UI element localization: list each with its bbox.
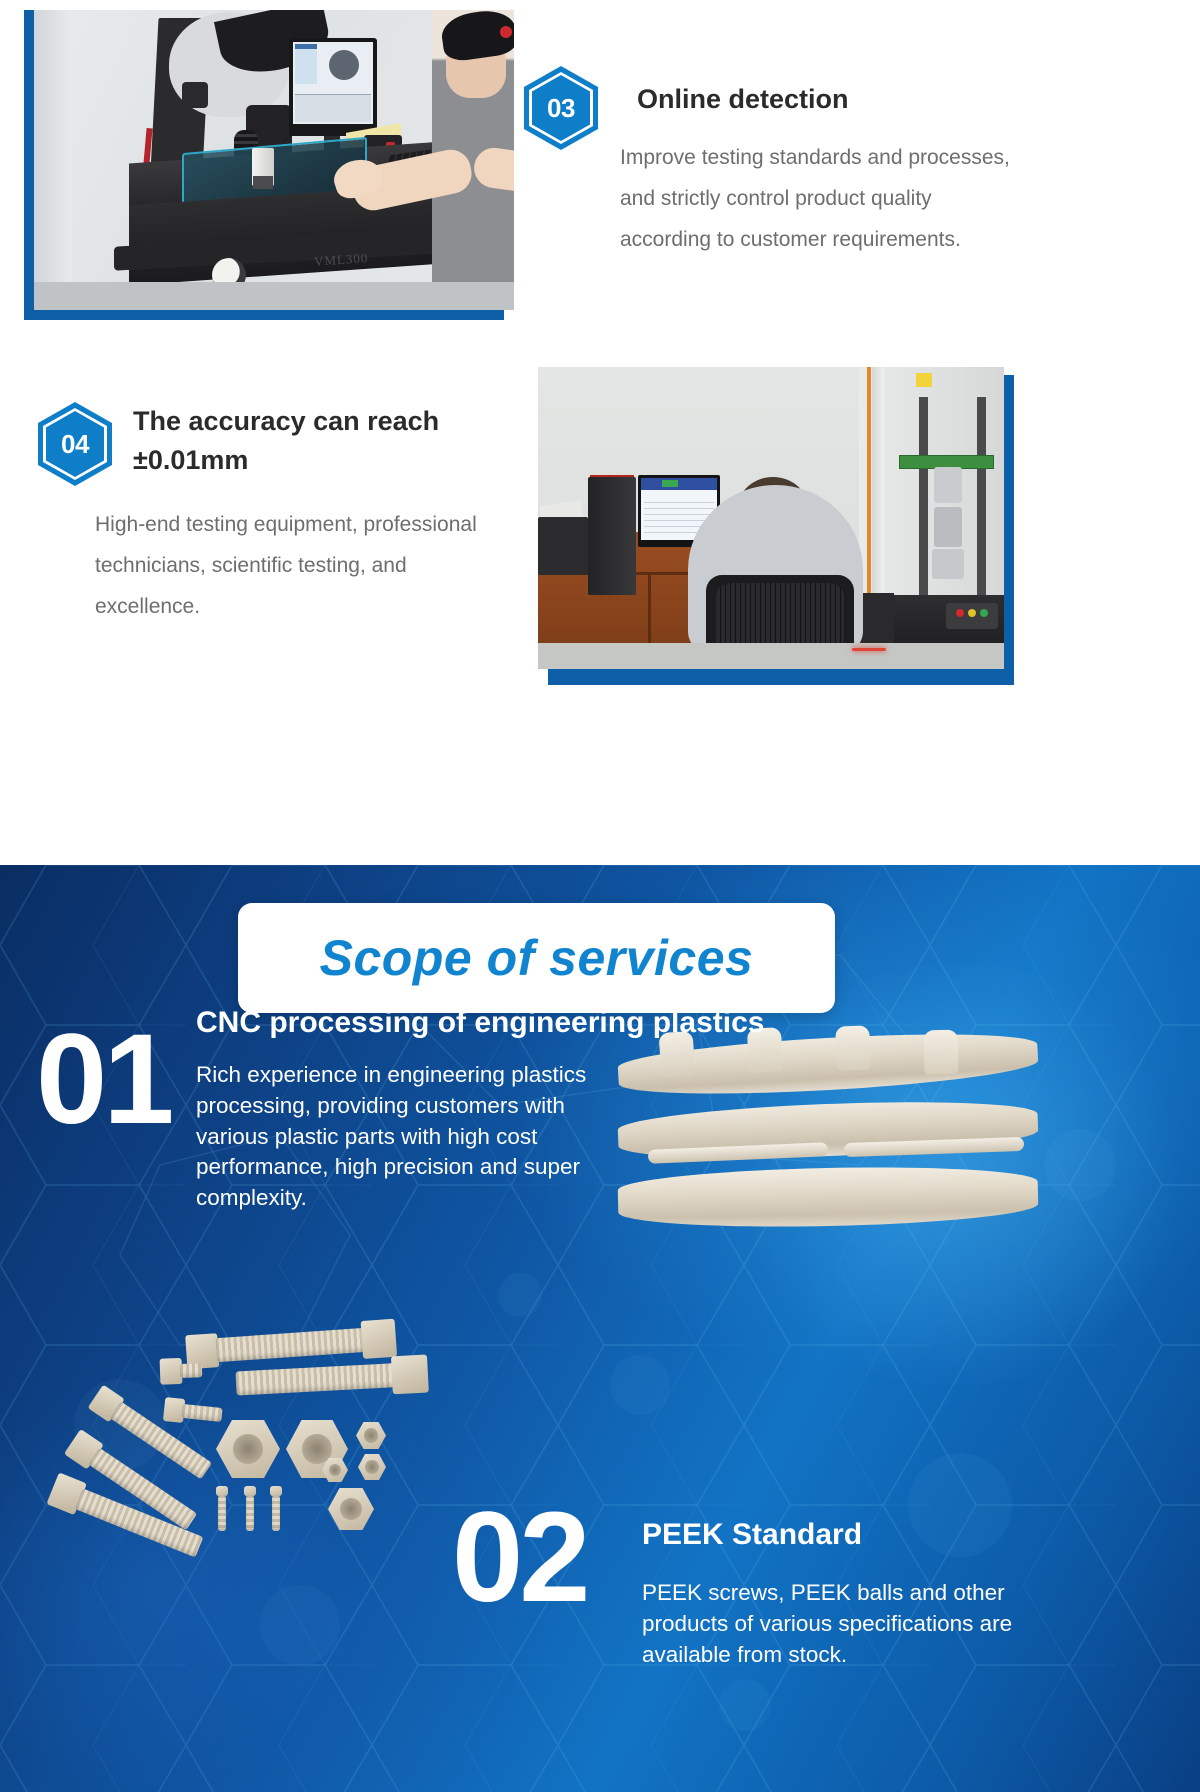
nut [358, 1454, 386, 1480]
service-title-02: PEEK Standard [642, 1518, 1092, 1552]
scope-banner-card: Scope of services [238, 903, 835, 1013]
scope-banner-title: Scope of services [320, 929, 754, 987]
photo-frame-online-detection: VML300 [24, 10, 504, 320]
nut [356, 1422, 386, 1449]
bolt [160, 1357, 201, 1384]
service-number-01: 01 [36, 1022, 170, 1137]
photo-frame-accuracy [548, 375, 1014, 685]
service-body-01: Rich experience in engineering plastics … [196, 1060, 618, 1214]
image-peek-screws-and-nuts [40, 1272, 500, 1562]
feature-number-04: 04 [38, 402, 112, 486]
feature-title-03: Online detection [637, 80, 1157, 119]
nut [328, 1488, 374, 1530]
bolt [163, 1397, 223, 1427]
feature-badge-03: 03 [524, 66, 598, 150]
screw [270, 1486, 280, 1532]
feature-badge-04: 04 [38, 402, 112, 486]
service-number-02: 02 [452, 1500, 586, 1615]
photo-online-detection: VML300 [34, 10, 514, 310]
screw [216, 1486, 226, 1532]
promo-page: VML300 03 Online detection Improve testi… [0, 0, 1200, 1792]
feature-body-03: Improve testing standards and processes,… [620, 138, 1020, 261]
feature-number-03: 03 [524, 66, 598, 150]
service-title-01: CNC processing of engineering plastics [196, 1006, 936, 1040]
feature-body-04: High-end testing equipment, professional… [95, 505, 515, 628]
features-section: VML300 03 Online detection Improve testi… [0, 0, 1200, 865]
screw [244, 1486, 254, 1532]
feature-title-04: The accuracy can reach ±0.01mm [133, 402, 503, 480]
photo-accuracy-testing [538, 367, 1004, 669]
image-peek-curved-part [618, 1028, 1038, 1263]
service-body-02: PEEK screws, PEEK balls and other produc… [642, 1578, 1042, 1670]
